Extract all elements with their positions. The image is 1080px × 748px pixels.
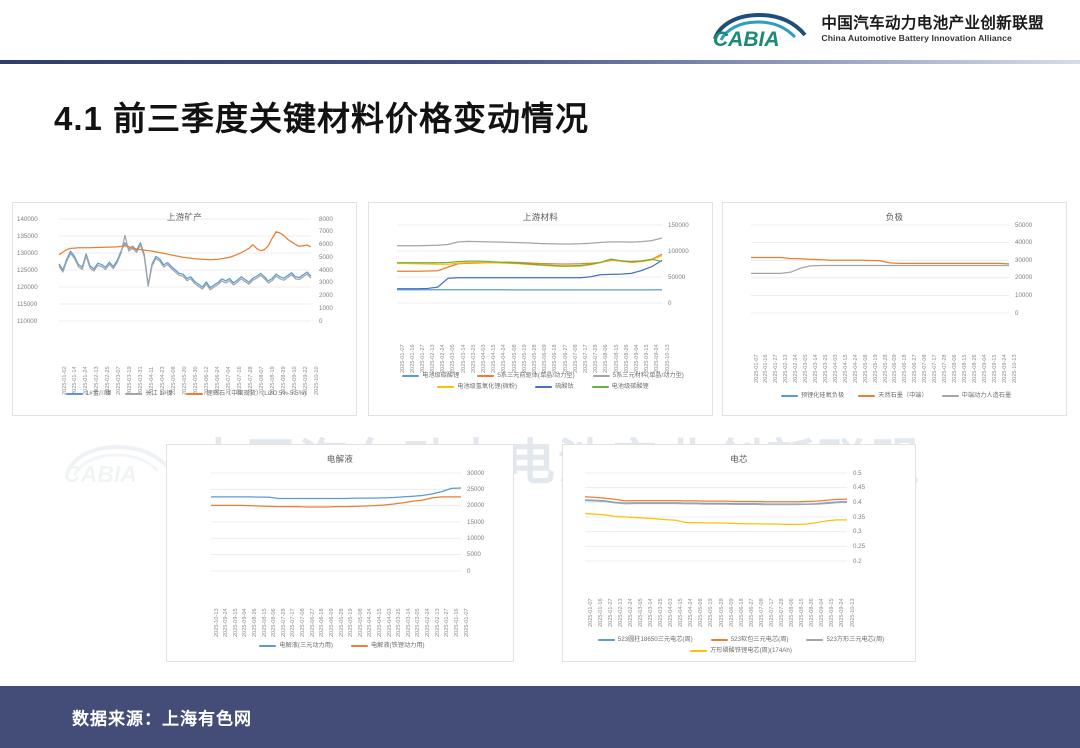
legend-item[interactable]: 523软包三元电芯(周) (711, 635, 789, 644)
legend-item[interactable]: 电池级碳酸锂 (402, 371, 459, 380)
legend-swatch-icon (781, 395, 798, 397)
legend-swatch-icon (259, 645, 276, 647)
x-tick-label: 2025-03-25 (823, 354, 829, 383)
chart-legend-upstream-material: 电池级碳酸锂5系三元前驱体(单晶/动力型)5系三元材料(单晶/动力型)电池级氢氧… (393, 371, 693, 391)
x-tick-label: 2025-07-08 (573, 344, 579, 373)
chart-card-upstream-material: 上游材料0500001000001500002025-01-072025-01-… (368, 202, 713, 416)
chart-card-cell: 电芯0.20.250.30.350.40.450.52025-01-072025… (562, 444, 916, 662)
y-tick-label: 150000 (668, 222, 689, 229)
x-tick-label: 2025-04-03 (481, 344, 487, 373)
x-tick-label: 2025-07-17 (290, 608, 296, 637)
x-tick-label: 2025-03-14 (461, 344, 467, 373)
x-tick-label: 2025-08-26 (624, 344, 630, 373)
y-tick-label: 10000 (1015, 292, 1032, 299)
y-tick-label: 30000 (1015, 257, 1032, 264)
x-tick-label: 2025-10-13 (665, 344, 671, 373)
slide-root: CABIA 中国汽车动力电池产业创新联盟 China Automotive Ba… (0, 0, 1080, 748)
x-tick-label: 2025-08-26 (252, 608, 258, 637)
chart-legend-anode: 预锂化硅氧负极天然石墨（中端）中端动力人造石墨 (731, 391, 1061, 400)
plot-area-anode: 01000020000300004000050000 (723, 223, 1068, 315)
x-tick-label: 2025-09-04 (242, 608, 248, 637)
cabia-logo-wordmark: CABIA (713, 28, 780, 49)
legend-item[interactable]: 锂辉石（中国现货）(Li2O:5%-5.5%) (186, 389, 306, 398)
x-tick-label: 2025-06-18 (319, 608, 325, 637)
x-tick-label: 2025-01-16 (454, 608, 460, 637)
legend-label: 预锂化硅氧负极 (801, 391, 844, 400)
x-tick-label: 2025-07-28 (942, 354, 948, 383)
legend-label: 电池级氢氧化锂(微粉) (457, 382, 517, 391)
x-tick-label: 2025-02-24 (425, 608, 431, 637)
legend-swatch-icon (690, 650, 707, 652)
x-tick-label: 2025-09-15 (829, 598, 835, 627)
x-tick-label: 2025-03-25 (471, 344, 477, 373)
slide-header: CABIA 中国汽车动力电池产业创新联盟 China Automotive Ba… (0, 0, 1080, 62)
x-tick-label: 2025-03-25 (396, 608, 402, 637)
legend-item[interactable]: 电解液(三元动力用) (259, 641, 333, 650)
legend-swatch-icon (351, 645, 368, 647)
x-tick-label: 2025-04-15 (377, 608, 383, 637)
y-tick-label: 15000 (467, 519, 484, 526)
series-line (751, 258, 1009, 264)
legend-item[interactable]: 中端动力人造石墨 (942, 391, 1012, 400)
x-tick-label: 2025-08-15 (962, 354, 968, 383)
x-tick-label: 2025-08-06 (789, 598, 795, 627)
y2-tick-label: 7000 (319, 228, 333, 235)
header-divider (0, 60, 1080, 64)
x-tick-label: 2025-06-27 (912, 354, 918, 383)
x-tick-label: 2025-02-24 (440, 344, 446, 373)
chart-card-upstream-mining: 上游矿产110000115000120000125000130000135000… (12, 202, 357, 416)
x-tick-label: 2025-03-05 (638, 598, 644, 627)
x-tick-label: 2025-04-15 (491, 344, 497, 373)
y-tick-label: 20000 (1015, 274, 1032, 281)
x-tick-label: 2025-08-15 (614, 344, 620, 373)
x-tick-label: 2025-05-08 (698, 598, 704, 627)
plot-svg-upstream-material (369, 223, 714, 307)
x-tick-label: 2025-04-15 (843, 354, 849, 383)
y-tick-label: 0.35 (853, 514, 865, 521)
y-tick-label: 0 (1015, 310, 1018, 317)
x-tick-label: 2025-01-27 (444, 608, 450, 637)
legend-item[interactable]: 方形磷酸铁锂电芯(周)(174Ah) (690, 646, 792, 655)
x-tick-label: 2025-01-07 (400, 344, 406, 373)
x-tick-label: 2025-09-24 (839, 598, 845, 627)
x-tick-label: 2025-06-09 (542, 344, 548, 373)
plot-area-upstream-material: 050000100000150000 (369, 223, 714, 305)
x-tick-label: 2025-02-24 (628, 598, 634, 627)
legend-label: 硫酸钴 (555, 382, 574, 391)
y-tick-label: 125000 (17, 267, 38, 274)
x-tick-label: 2025-04-03 (833, 354, 839, 383)
legend-label: 长江 1#镍 (145, 389, 172, 398)
x-tick-label: 2025-02-13 (783, 354, 789, 383)
y-tick-label: 20000 (467, 502, 484, 509)
y-tick-label: 140000 (17, 216, 38, 223)
legend-swatch-icon (858, 395, 875, 397)
y-tick-label: 120000 (17, 284, 38, 291)
y2-tick-label: 8000 (319, 216, 333, 223)
plot-svg-upstream-mining (13, 217, 358, 325)
x-tick-label: 2025-05-19 (873, 354, 879, 383)
legend-item[interactable]: 电解液(铁锂动力用) (351, 641, 425, 650)
legend-label: 1#金川镍 (86, 389, 111, 398)
legend-swatch-icon (66, 393, 83, 395)
x-tick-label: 2025-03-05 (803, 354, 809, 383)
legend-swatch-icon (477, 375, 494, 377)
y2-tick-label: 5000 (319, 254, 333, 261)
x-tick-label: 2025-06-27 (749, 598, 755, 627)
y-tick-label: 50000 (1015, 222, 1032, 229)
series-line (751, 265, 1009, 273)
y-tick-label: 110000 (17, 318, 37, 325)
legend-label: 电解液(铁锂动力用) (371, 641, 425, 650)
chart-card-electrolyte: 电解液0500010000150002000025000300002025-10… (166, 444, 514, 662)
legend-label: 电解液(三元动力用) (279, 641, 333, 650)
x-tick-label: 2025-04-24 (367, 608, 373, 637)
x-tick-label: 2025-03-14 (406, 608, 412, 637)
y-tick-label: 0.25 (853, 543, 865, 550)
x-tick-label: 2025-05-19 (708, 598, 714, 627)
x-tick-label: 2025-05-28 (339, 608, 345, 637)
legend-swatch-icon (942, 395, 959, 397)
y-tick-label: 10000 (467, 535, 484, 542)
x-tick-label: 2025-08-06 (271, 608, 277, 637)
x-tick-label: 2025-01-07 (464, 608, 470, 637)
y-tick-label: 100000 (668, 248, 689, 255)
chart-title-cell: 电芯 (563, 453, 915, 465)
y-tick-label: 0.4 (853, 499, 862, 506)
legend-label: 5系三元材料(单晶/动力型) (613, 371, 684, 380)
x-tick-label: 2025-07-17 (769, 598, 775, 627)
x-tick-label: 2025-03-25 (658, 598, 664, 627)
y-tick-label: 115000 (17, 301, 37, 308)
y2-tick-label: 4000 (319, 267, 333, 274)
x-tick-label: 2025-08-26 (809, 598, 815, 627)
legend-label: 天然石墨（中端） (878, 391, 928, 400)
chart-legend-electrolyte: 电解液(三元动力用)电解液(铁锂动力用) (177, 641, 507, 650)
legend-item[interactable]: 523圆柱18650三元电芯(周) (598, 635, 693, 644)
x-tick-label: 2025-07-17 (932, 354, 938, 383)
x-tick-label: 2025-07-28 (281, 608, 287, 637)
x-tick-label: 2025-05-08 (358, 608, 364, 637)
x-tick-label: 2025-08-06 (603, 344, 609, 373)
legend-label: 方形磷酸铁锂电芯(周)(174Ah) (710, 646, 792, 655)
x-tick-label: 2025-06-18 (902, 354, 908, 383)
page-title: 4.1 前三季度关键材料价格变动情况 (54, 92, 589, 140)
x-tick-label: 2025-08-26 (972, 354, 978, 383)
x-tick-label: 2025-06-09 (892, 354, 898, 383)
data-source-label: 数据来源：上海有色网 (72, 705, 252, 730)
x-tick-label: 2025-03-05 (450, 344, 456, 373)
x-tick-label: 2025-05-08 (863, 354, 869, 383)
legend-swatch-icon (598, 639, 615, 641)
y-tick-label: 0.2 (853, 558, 862, 565)
y-tick-label: 30000 (467, 470, 484, 477)
legend-item[interactable]: 天然石墨（中端） (858, 391, 928, 400)
legend-label: 锂辉石（中国现货）(Li2O:5%-5.5%) (206, 389, 306, 398)
x-tick-label: 2025-10-13 (1012, 354, 1018, 383)
x-tick-label: 2025-01-27 (420, 344, 426, 373)
series-line (585, 513, 847, 524)
legend-item[interactable]: 1#金川镍 (66, 389, 111, 398)
legend-label: 中端动力人造石墨 (962, 391, 1012, 400)
y-tick-label: 0 (668, 300, 671, 307)
legend-swatch-icon (592, 386, 609, 388)
x-tick-label: 2025-09-24 (654, 344, 660, 373)
cabia-logo-mark: CABIA (709, 9, 813, 49)
x-tick-label: 2025-02-24 (793, 354, 799, 383)
y-tick-label: 130000 (17, 250, 38, 257)
x-tick-label: 2025-04-24 (501, 344, 507, 373)
x-tick-label: 2025-04-15 (678, 598, 684, 627)
x-tick-label: 2025-10-13 (214, 608, 220, 637)
x-tick-label: 2025-06-09 (729, 598, 735, 627)
plot-svg-electrolyte (167, 471, 515, 575)
legend-label: 523圆柱18650三元电芯(周) (618, 635, 693, 644)
chart-card-anode: 负极010000200003000040000500002025-01-0720… (722, 202, 1067, 416)
x-tick-label: 2025-06-27 (563, 344, 569, 373)
x-tick-label: 2025-08-15 (262, 608, 268, 637)
plot-area-cell: 0.20.250.30.350.40.450.5 (563, 471, 917, 563)
x-tick-label: 2025-06-18 (552, 344, 558, 373)
plot-area-electrolyte: 050001000015000200002500030000 (167, 471, 515, 573)
legend-label: 523软包三元电芯(周) (731, 635, 789, 644)
org-name-cn: 中国汽车动力电池产业创新联盟 (821, 14, 1044, 33)
x-tick-label: 2025-06-27 (310, 608, 316, 637)
x-tick-label: 2025-04-24 (853, 354, 859, 383)
cabia-logo-text: 中国汽车动力电池产业创新联盟 China Automotive Battery … (821, 14, 1044, 44)
svg-text:CABIA: CABIA (64, 461, 137, 486)
chart-legend-cell: 523圆柱18650三元电芯(周)523软包三元电芯(周)523方形三元电芯(周… (571, 635, 911, 655)
x-tick-label: 2025-02-13 (430, 344, 436, 373)
legend-swatch-icon (535, 386, 552, 388)
x-tick-label: 2025-09-24 (223, 608, 229, 637)
y2-tick-label: 1000 (319, 305, 333, 312)
x-tick-label: 2025-07-08 (300, 608, 306, 637)
x-tick-label: 2025-09-15 (233, 608, 239, 637)
y-tick-label: 0.3 (853, 528, 862, 535)
x-tick-label: 2025-04-24 (688, 598, 694, 627)
x-tick-label: 2025-02-13 (618, 598, 624, 627)
y2-tick-label: 2000 (319, 292, 333, 299)
chart-title-electrolyte: 电解液 (167, 453, 513, 465)
y-tick-label: 50000 (668, 274, 685, 281)
x-tick-label: 2025-05-19 (522, 344, 528, 373)
x-tick-label: 2025-07-28 (779, 598, 785, 627)
y2-tick-label: 6000 (319, 241, 333, 248)
x-tick-label: 2025-09-04 (819, 598, 825, 627)
legend-item[interactable]: 5系三元材料(单晶/动力型) (593, 371, 684, 380)
x-tick-label: 2025-05-28 (719, 598, 725, 627)
x-tick-label: 2025-01-07 (754, 354, 760, 383)
series-line (59, 235, 311, 289)
series-line (585, 497, 847, 502)
legend-item[interactable]: 电池级氢氧化锂(微粉) (437, 382, 517, 391)
series-line (397, 238, 662, 246)
x-tick-label: 2025-09-15 (992, 354, 998, 383)
x-tick-label: 2025-01-07 (588, 598, 594, 627)
x-tick-label: 2025-05-08 (512, 344, 518, 373)
x-tick-label: 2025-01-27 (608, 598, 614, 627)
legend-item[interactable]: 长江 1#镍 (125, 389, 172, 398)
legend-swatch-icon (711, 639, 728, 641)
legend-item[interactable]: 预锂化硅氧负极 (781, 391, 844, 400)
x-tick-label: 2025-09-04 (634, 344, 640, 373)
y-tick-label: 0.45 (853, 484, 865, 491)
y2-tick-label: 0 (319, 318, 322, 325)
x-tick-label: 2025-07-17 (583, 344, 589, 373)
legend-item[interactable]: 5系三元前驱体(单晶/动力型) (477, 371, 574, 380)
y-tick-label: 0.5 (853, 470, 862, 477)
y-tick-label: 0 (467, 568, 470, 575)
x-tick-label: 2025-09-15 (644, 344, 650, 373)
legend-item[interactable]: 523方形三元电芯(周) (806, 635, 884, 644)
legend-swatch-icon (806, 639, 823, 641)
x-tick-label: 2025-05-28 (883, 354, 889, 383)
y-tick-label: 135000 (17, 233, 38, 240)
x-tick-label: 2025-06-09 (329, 608, 335, 637)
slide-footer: 数据来源：上海有色网 (0, 686, 1080, 748)
x-tick-label: 2025-06-18 (739, 598, 745, 627)
x-tick-label: 2025-09-04 (982, 354, 988, 383)
x-tick-label: 2025-01-16 (410, 344, 416, 373)
x-tick-label: 2025-03-14 (648, 598, 654, 627)
legend-label: 5系三元前驱体(单晶/动力型) (497, 371, 574, 380)
legend-swatch-icon (593, 375, 610, 377)
x-tick-label: 2025-05-28 (532, 344, 538, 373)
legend-item[interactable]: 硫酸钴 (535, 382, 574, 391)
x-tick-label: 2025-07-08 (759, 598, 765, 627)
legend-swatch-icon (125, 393, 142, 395)
x-tick-label: 2025-08-06 (952, 354, 958, 383)
x-tick-label: 2025-07-08 (922, 354, 928, 383)
x-tick-label: 2025-07-28 (593, 344, 599, 373)
x-tick-label: 2025-01-16 (763, 354, 769, 383)
x-tick-label: 2025-04-03 (387, 608, 393, 637)
legend-label: 523方形三元电芯(周) (826, 635, 884, 644)
y-tick-label: 25000 (467, 486, 484, 493)
x-tick-label: 2025-04-03 (668, 598, 674, 627)
legend-swatch-icon (437, 386, 454, 388)
watermark-logo-icon: CABIA (60, 440, 180, 486)
legend-item[interactable]: 电池级碳酸锂 (592, 382, 649, 391)
plot-area-upstream-mining: 1100001150001200001250001300001350001400… (13, 217, 358, 323)
chart-title-upstream-material: 上游材料 (369, 211, 712, 223)
x-tick-label: 2025-10-13 (850, 598, 856, 627)
x-tick-label: 2025-02-13 (435, 608, 441, 637)
x-tick-label: 2025-09-24 (1002, 354, 1008, 383)
x-tick-label: 2025-03-14 (813, 354, 819, 383)
x-tick-label: 2025-01-27 (773, 354, 779, 383)
series-line (59, 243, 311, 288)
cabia-logo: CABIA 中国汽车动力电池产业创新联盟 China Automotive Ba… (709, 9, 1044, 49)
plot-svg-anode (723, 223, 1068, 317)
legend-label: 电池级碳酸锂 (422, 371, 459, 380)
org-name-en: China Automotive Battery Innovation Alli… (821, 33, 1044, 44)
y-tick-label: 40000 (1015, 239, 1032, 246)
y-tick-label: 5000 (467, 551, 481, 558)
x-tick-label: 2025-05-19 (348, 608, 354, 637)
legend-swatch-icon (402, 375, 419, 377)
x-tick-label: 2025-08-15 (799, 598, 805, 627)
x-tick-label: 2025-01-16 (598, 598, 604, 627)
legend-label: 电池级碳酸锂 (612, 382, 649, 391)
legend-swatch-icon (186, 393, 203, 395)
x-tick-label: 2025-03-05 (415, 608, 421, 637)
chart-legend-upstream-mining: 1#金川镍长江 1#镍锂辉石（中国现货）(Li2O:5%-5.5%) (21, 389, 351, 398)
y2-tick-label: 3000 (319, 279, 333, 286)
